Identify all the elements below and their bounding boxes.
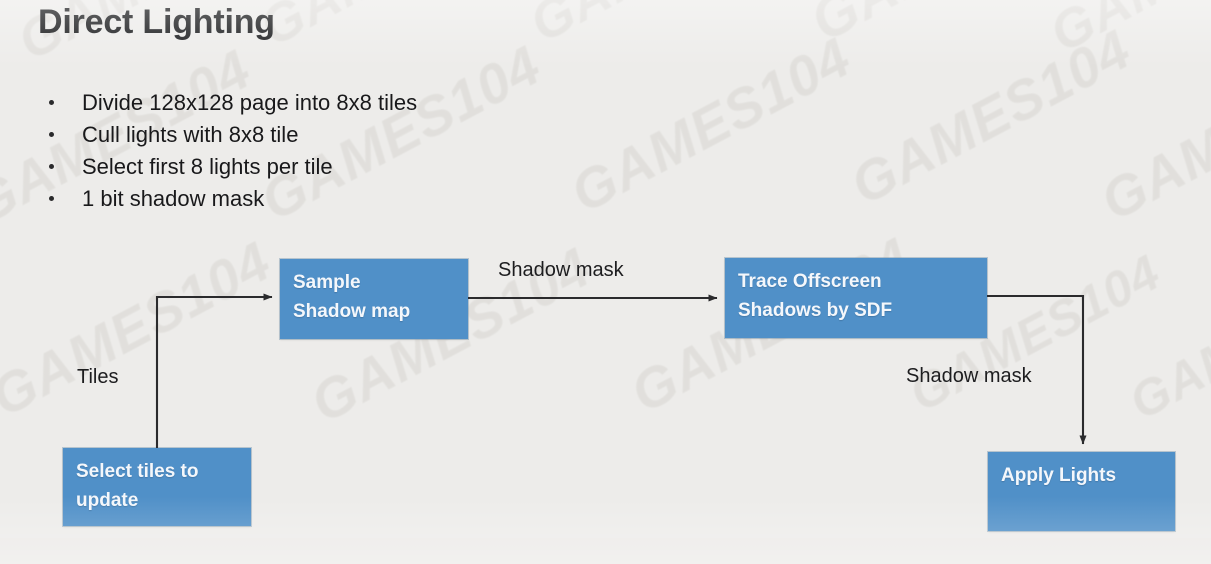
connector-select-to-sample: [157, 297, 272, 448]
edge-label-tiles: Tiles: [77, 366, 118, 389]
edge-label-shadow-mask-right: Shadow mask: [906, 365, 1032, 388]
flow-diagram: Select tiles to update Sample Shadow map…: [0, 0, 1211, 564]
flow-connectors: [0, 0, 1211, 564]
slide-canvas: GAMES104GAMES104GAMES104GAMES104GAMES104…: [0, 0, 1211, 564]
edge-label-shadow-mask-top: Shadow mask: [498, 259, 624, 282]
